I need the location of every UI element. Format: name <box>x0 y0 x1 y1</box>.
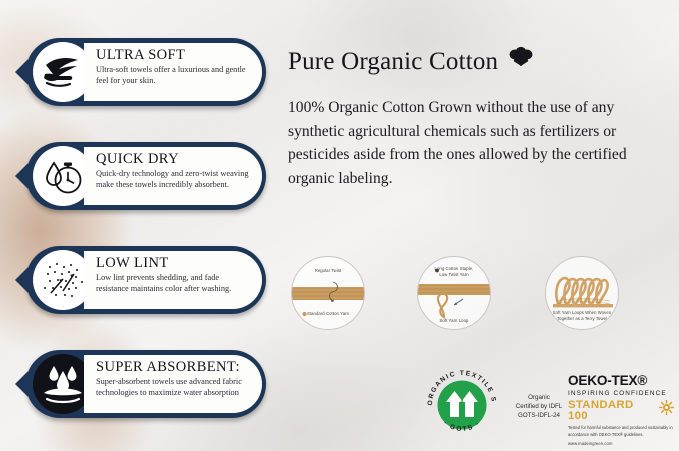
feature-badge-super-absorbent: SUPER ABSORBENT: Super-absorbent towels … <box>26 350 266 418</box>
feature-description: Quick-dry technology and zero-twist weav… <box>96 169 252 191</box>
gots-seal-icon: GLOBAL ORGANIC TEXTILE STANDARD - GOTS - <box>423 366 501 444</box>
body-paragraph: 100% Organic Cotton Grown without the us… <box>288 96 670 191</box>
feature-title: SUPER ABSORBENT: <box>96 360 252 375</box>
oeko-tex-subtitle: INSPIRING CONFIDENCE <box>568 390 674 397</box>
feature-text-block: ULTRA SOFT Ultra-soft towels offer a lux… <box>84 43 262 101</box>
yarn-bottom-label: Soft Yarn Loop <box>418 318 490 324</box>
feature-description: Super-absorbent towels use advanced fabr… <box>96 377 252 399</box>
oeko-tex-fine-print: Tested for harmful substance and produce… <box>568 425 674 437</box>
gots-cert-line-2: Certified by IDFL <box>508 403 570 412</box>
sun-burst-icon <box>659 400 674 420</box>
feature-title: QUICK DRY <box>96 152 252 167</box>
oeko-tex-certification: OEKO-TEX® INSPIRING CONFIDENCE STANDARD … <box>568 374 674 447</box>
yarn-top-label: Long Cotton Staple, Low Twist Yarn <box>418 266 490 277</box>
feature-badge-low-lint: LOW LINT Low lint prevents shedding, and… <box>26 246 266 314</box>
feature-description: Low lint prevents shedding, and fade res… <box>96 273 252 295</box>
feature-title: LOW LINT <box>96 256 252 271</box>
yarn-diagram-regular-twist: Regular Twist Standard Cotton Yarn <box>291 256 365 330</box>
feature-description: Ultra-soft towels offer a luxurious and … <box>96 65 252 87</box>
yarn-bottom-label: Standard Cotton Yarn <box>292 311 364 317</box>
oeko-tex-url: www.madeingreen.com <box>568 441 674 447</box>
feature-badge-quick-dry: QUICK DRY Quick-dry technology and zero-… <box>26 142 266 210</box>
feature-text-block: LOW LINT Low lint prevents shedding, and… <box>84 251 262 309</box>
yarn-bottom-label-line2: Together as a Terry Towel <box>546 316 618 322</box>
feature-badge-ultra-soft: ULTRA SOFT Ultra-soft towels offer a lux… <box>26 38 266 106</box>
feature-text-block: SUPER ABSORBENT: Super-absorbent towels … <box>84 355 262 413</box>
infographic-canvas: ULTRA SOFT Ultra-soft towels offer a lux… <box>0 0 679 451</box>
feature-text-block: QUICK DRY Quick-dry technology and zero-… <box>84 147 262 205</box>
yarn-diagram-low-twist: Long Cotton Staple, Low Twist Yarn Soft … <box>417 256 491 330</box>
yarn-diagram-terry-loops: Soft Yarn Loops When Woven Together as a… <box>545 256 619 330</box>
yarn-top-label-line2: Low Twist Yarn <box>418 272 490 278</box>
yarn-bottom-label: Soft Yarn Loops When Woven Together as a… <box>546 310 618 321</box>
straight-twisted-yarn-icon <box>292 257 365 330</box>
page-title-text: Pure Organic Cotton <box>288 48 498 76</box>
feature-title: ULTRA SOFT <box>96 48 252 63</box>
cotton-boll-icon <box>508 46 534 77</box>
page-title: Pure Organic Cotton <box>288 46 534 77</box>
gots-cert-line-3: GOTS-IDFL-24 <box>508 412 570 421</box>
oeko-tex-title: OEKO-TEX® <box>568 374 674 388</box>
gots-cert-line-1: Organic <box>508 394 570 403</box>
gots-certification-text: Organic Certified by IDFL GOTS-IDFL-24 <box>508 394 570 421</box>
yarn-bottom-label-line1: Soft Yarn Loops When Woven <box>546 310 618 316</box>
oeko-tex-standard: STANDARD 100 <box>568 400 653 423</box>
